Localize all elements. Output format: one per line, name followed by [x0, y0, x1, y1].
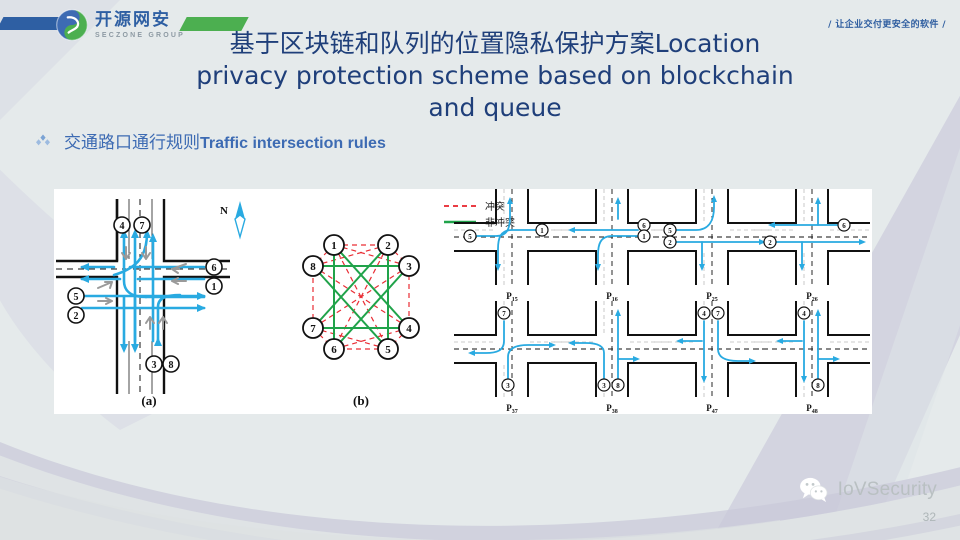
svg-text:6: 6 [842, 222, 846, 230]
svg-text:8: 8 [310, 261, 316, 273]
svg-text:3: 3 [152, 360, 157, 371]
svg-text:1: 1 [212, 282, 217, 293]
panel-a-caption: (a) [141, 393, 156, 408]
figure-image-panel: 4 7 6 1 5 2 3 8 [54, 189, 872, 414]
svg-text:6: 6 [212, 263, 217, 274]
svg-text:4: 4 [120, 221, 125, 232]
panel-b-caption: (b) [353, 393, 369, 408]
logo-cn-name: 开源网安 [95, 12, 185, 29]
section-heading-text: 交通路口通行规则Traffic intersection rules [64, 128, 386, 153]
svg-text:5: 5 [385, 344, 391, 356]
svg-text:6: 6 [331, 344, 337, 356]
svg-text:8: 8 [616, 382, 620, 390]
seczone-yin-yang-logo-icon [55, 8, 89, 42]
svg-text:3: 3 [602, 382, 606, 390]
svg-text:2: 2 [74, 311, 79, 322]
svg-text:1: 1 [540, 227, 544, 235]
svg-text:5: 5 [74, 292, 79, 303]
section-heading: 交通路口通行规则Traffic intersection rules [36, 128, 386, 153]
svg-text:5: 5 [468, 233, 472, 241]
diamond-bullet-icon [36, 134, 50, 148]
svg-text:2: 2 [668, 239, 672, 247]
svg-text:N: N [220, 205, 228, 217]
svg-text:4: 4 [406, 323, 412, 335]
page-title: 基于区块链和队列的位置隐私保护方案Location privacy protec… [180, 28, 810, 124]
svg-text:4: 4 [702, 310, 706, 318]
svg-text:1: 1 [642, 233, 646, 241]
svg-text:2: 2 [385, 240, 391, 252]
svg-text:3: 3 [506, 382, 510, 390]
brand-logo: 开源网安 SECZONE GROUP [55, 8, 185, 42]
svg-text:5: 5 [668, 227, 672, 235]
svg-text:4: 4 [802, 310, 806, 318]
svg-text:7: 7 [716, 310, 720, 318]
svg-text:1: 1 [331, 240, 337, 252]
traffic-figure-svg: 4 7 6 1 5 2 3 8 [54, 189, 872, 414]
brand-tagline: / 让企业交付更安全的软件 / [828, 17, 946, 30]
section-heading-cn: 交通路口通行规则 [64, 133, 200, 153]
svg-text:2: 2 [768, 239, 772, 247]
section-heading-en: Traffic intersection rules [200, 135, 386, 152]
svg-text:8: 8 [816, 382, 820, 390]
wechat-account-name: IoVSecurity [838, 479, 937, 501]
page-number: 32 [923, 510, 936, 524]
wechat-account-row: IoVSecurity [799, 477, 937, 503]
svg-text:7: 7 [502, 310, 506, 318]
svg-text:6: 6 [642, 222, 646, 230]
wechat-icon [799, 477, 829, 503]
svg-text:7: 7 [310, 323, 316, 335]
svg-text:7: 7 [140, 221, 145, 232]
logo-en-name: SECZONE GROUP [95, 32, 185, 39]
svg-text:8: 8 [169, 360, 174, 371]
svg-text:3: 3 [406, 261, 412, 273]
slide-canvas: 开源网安 SECZONE GROUP / 让企业交付更安全的软件 / 基于区块链… [0, 0, 960, 540]
